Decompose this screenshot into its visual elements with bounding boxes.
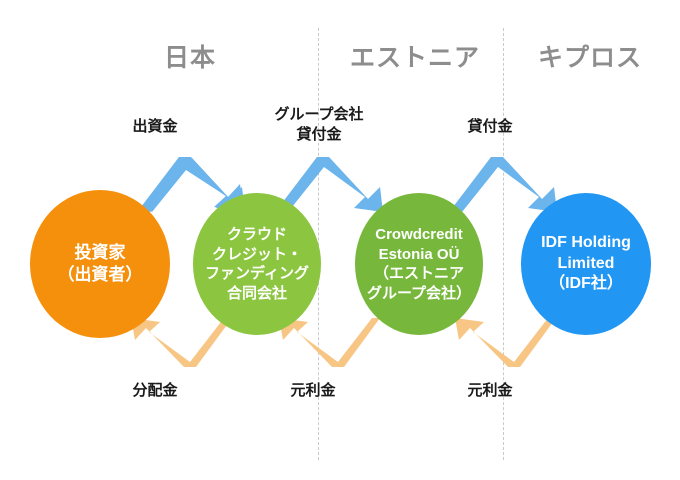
entity-ccf-line-4: 合同会社 <box>227 284 287 304</box>
flow-label-group-company-loan: グループ会社 貸付金 <box>258 105 380 145</box>
country-label-japan: 日本 <box>110 38 270 74</box>
entity-cce-line-4: グループ会社） <box>367 284 471 304</box>
entity-ccf-line-2: クレジット・ <box>212 245 302 265</box>
entity-cce-line-2: Estonia OÜ <box>379 245 460 265</box>
flow-label-toushikin: 出資金 <box>111 117 199 137</box>
arrow-return-cce-to-ccf <box>276 318 392 380</box>
country-label-estonia: エストニア <box>330 38 500 74</box>
entity-cce-line-1: Crowdcredit <box>375 225 463 245</box>
flow-label-bunpaikin: 分配金 <box>112 381 198 401</box>
arrow-forward-cce-to-idf <box>452 150 568 212</box>
arrow-return-idf-to-cce <box>452 318 568 380</box>
funding-flow-diagram: 日本 エストニア キプロス 投資家 （出資者） <box>0 0 680 480</box>
entity-investor-line-2: （出資者） <box>58 264 143 286</box>
entity-idf-line-1: IDF Holding <box>541 233 631 254</box>
country-label-cyprus: キプロス <box>515 38 665 74</box>
entity-idf-holding: IDF Holding Limited （IDF社） <box>521 193 651 335</box>
entity-crowdcredit-funding: クラウド クレジット・ ファンディング 合同会社 <box>193 193 321 335</box>
entity-ccf-line-3: ファンディング <box>205 264 309 284</box>
flow-label-group-company-loan-line-1: グループ会社 <box>274 106 363 123</box>
entity-investor-line-1: 投資家 <box>75 242 126 264</box>
entity-cce-line-3: （エストニア <box>374 264 464 284</box>
arrow-return-ccf-to-investor <box>128 318 244 380</box>
entity-crowdcredit-estonia: Crowdcredit Estonia OÜ （エストニア グループ会社） <box>355 193 483 335</box>
flow-label-kashitsukekin: 貸付金 <box>440 117 540 137</box>
flow-label-group-company-loan-line-2: 貸付金 <box>296 126 341 143</box>
entity-investor: 投資家 （出資者） <box>30 190 170 338</box>
entity-idf-line-3: （IDF社） <box>549 274 623 295</box>
flow-label-ganrikin-idf-to-cce: 元利金 <box>440 381 540 401</box>
arrow-forward-ccf-to-cce <box>278 150 394 212</box>
entity-idf-line-2: Limited <box>558 254 615 275</box>
entity-ccf-line-1: クラウド <box>227 225 287 245</box>
flow-label-ganrikin-cce-to-ccf: 元利金 <box>258 381 368 401</box>
